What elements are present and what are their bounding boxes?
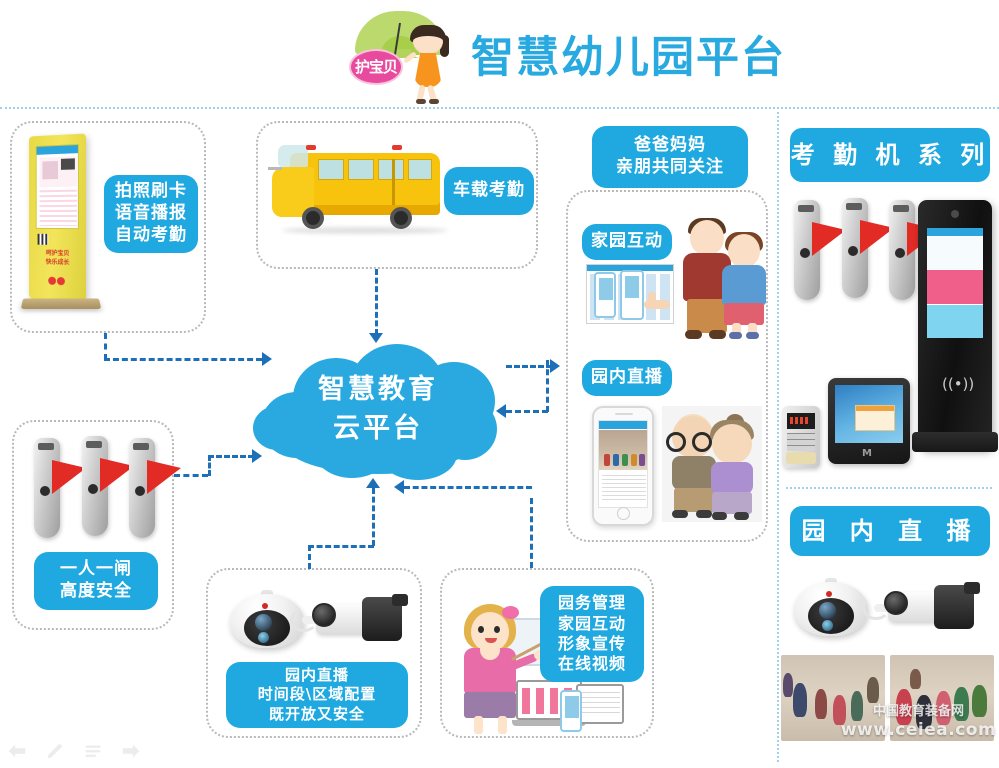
attendance-totem-icon: ((•)) xyxy=(918,200,992,450)
turnstile-gates-icon xyxy=(30,436,160,542)
list-icon[interactable] xyxy=(82,740,104,762)
arrow-cloud-to-parents xyxy=(550,359,560,373)
page-header: 护宝贝 智慧幼儿园平台 xyxy=(0,0,999,108)
connector-teacher-v xyxy=(530,498,533,568)
kiosk-feature-3: 自动考勤 xyxy=(115,225,187,247)
interaction-label-text: 家园互动 xyxy=(591,231,663,253)
connector-cam-v1 xyxy=(308,545,311,569)
school-bus-icon xyxy=(272,141,458,241)
connector-bus-v xyxy=(375,269,378,335)
page-title: 智慧幼儿园平台 xyxy=(471,23,786,85)
camera-feature-2: 时间段\区域配置 xyxy=(258,685,376,704)
bus-feature-1: 车载考勤 xyxy=(453,180,525,202)
teacher-feature-4: 在线视频 xyxy=(558,654,626,674)
arrow-kiosk-to-cloud xyxy=(262,352,272,366)
sidebar-dome-camera-icon xyxy=(794,578,868,640)
sidebar-title-attendance[interactable]: 考 勤 机 系 列 xyxy=(790,128,990,182)
infographic-root: 护宝贝 智慧幼儿园平台 呵护宝贝 快乐成长 拍照刷卡 xyxy=(0,0,999,768)
card-bus-attendance[interactable]: 车载考勤 xyxy=(256,121,538,269)
arrow-parents-to-cloud xyxy=(496,404,506,418)
kiosk-feature-1: 拍照刷卡 xyxy=(115,181,187,203)
card-turnstile-gates[interactable]: 一人一闸 高度安全 xyxy=(12,420,174,630)
connector-cam-v2 xyxy=(372,488,375,546)
cloud-platform-label: 智慧教育 云平台 xyxy=(253,370,503,448)
interaction-phone-screenshot xyxy=(594,272,616,318)
connector-gate-h2 xyxy=(208,455,254,458)
brand-badge: 护宝贝 xyxy=(349,49,403,85)
classroom-photo-1 xyxy=(781,655,885,741)
label-teacher-features[interactable]: 园务管理 家园互动 形象宣传 在线视频 xyxy=(540,586,644,682)
vertical-divider xyxy=(777,112,779,762)
arrow-teacher-to-cloud xyxy=(394,480,404,494)
connector-kiosk-h xyxy=(104,358,262,361)
kiosk-feature-2: 语音播报 xyxy=(115,203,187,225)
card-reader-icon xyxy=(782,406,820,468)
arrow-bus-to-cloud xyxy=(369,333,383,343)
parents-live-label-text: 园内直播 xyxy=(591,367,663,389)
live-stream-phone-icon xyxy=(592,406,654,526)
parents-header-1: 爸爸妈妈 xyxy=(634,135,706,157)
sidebar-attendance-title-text: 考 勤 机 系 列 xyxy=(791,140,989,171)
teacher-feature-2: 家园互动 xyxy=(558,614,626,634)
card-parents-services[interactable]: 家园互动 园内直播 xyxy=(566,190,768,542)
teacher-feature-1: 园务管理 xyxy=(558,593,626,613)
gate-feature-2: 高度安全 xyxy=(60,581,132,603)
connector-parents-v xyxy=(546,360,549,412)
card-kiosk-attendance[interactable]: 呵护宝贝 快乐成长 拍照刷卡 语音播报 自动考勤 xyxy=(10,121,206,333)
sidebar-bullet-camera-icon xyxy=(872,580,982,636)
kiosk-slogan-1: 呵护宝贝 xyxy=(46,250,70,258)
gate-feature-1: 一人一闸 xyxy=(60,559,132,581)
cloud-line-1: 智慧教育 xyxy=(253,370,503,409)
grandparents-photo xyxy=(662,406,762,522)
back-arrow-icon[interactable] xyxy=(6,740,28,762)
pointing-hand-icon xyxy=(644,292,678,322)
header-divider xyxy=(0,107,999,109)
connector-parents-h2 xyxy=(506,410,548,413)
arrow-gates-to-cloud xyxy=(252,449,262,463)
classroom-photo-2 xyxy=(890,655,994,741)
pencil-icon[interactable] xyxy=(44,740,66,762)
card-teacher-management[interactable]: 园务管理 家园互动 形象宣传 在线视频 xyxy=(440,568,654,738)
camera-feature-3: 既开放又安全 xyxy=(269,705,365,724)
label-bus-attendance[interactable]: 车载考勤 xyxy=(444,167,534,215)
forward-arrow-icon[interactable] xyxy=(120,740,142,762)
connector-kiosk-v xyxy=(104,333,107,360)
interaction-phone-screenshot-2 xyxy=(620,270,644,320)
attendance-kiosk-device-icon: 呵护宝贝 快乐成长 xyxy=(22,135,102,315)
cloud-line-2: 云平台 xyxy=(253,409,503,448)
label-home-school-interaction[interactable]: 家园互动 xyxy=(582,224,672,260)
sidebar-live-title-text: 园 内 直 播 xyxy=(801,516,978,547)
teacher-feature-3: 形象宣传 xyxy=(558,634,626,654)
kiosk-slogan-2: 快乐成长 xyxy=(46,259,70,267)
label-kiosk-features[interactable]: 拍照刷卡 语音播报 自动考勤 xyxy=(104,175,198,253)
parents-couple-icon xyxy=(676,220,768,340)
arrow-cameras-to-cloud xyxy=(366,478,380,488)
sidebar-title-live[interactable]: 园 内 直 播 xyxy=(790,506,990,556)
teacher-devices-icon xyxy=(512,676,642,732)
bullet-camera-icon xyxy=(300,592,410,648)
cloud-platform-node[interactable]: 智慧教育 云平台 xyxy=(253,340,503,486)
umbrella-girl-logo-icon: 护宝贝 xyxy=(345,5,457,103)
label-gate-security[interactable]: 一人一闸 高度安全 xyxy=(34,552,158,610)
connector-teacher-h xyxy=(404,486,532,489)
tablet-attendance-terminal-icon: M xyxy=(828,378,910,464)
girl-figure-icon xyxy=(405,27,453,101)
camera-feature-1: 园内直播 xyxy=(285,666,349,685)
connector-gate-h1 xyxy=(174,474,208,477)
card-campus-live[interactable]: 园内直播 时间段\区域配置 既开放又安全 xyxy=(206,568,422,738)
connector-gate-v xyxy=(208,455,211,476)
bottom-toolbar[interactable] xyxy=(6,740,142,762)
label-parents-live[interactable]: 园内直播 xyxy=(582,360,672,396)
parents-header-2: 亲朋共同关注 xyxy=(616,157,724,179)
connector-cam-h xyxy=(308,545,374,548)
nfc-wave-icon: ((•)) xyxy=(942,375,970,391)
sidebar-section-divider xyxy=(786,487,992,489)
label-campus-live[interactable]: 园内直播 时间段\区域配置 既开放又安全 xyxy=(226,662,408,728)
label-parents-header[interactable]: 爸爸妈妈 亲朋共同关注 xyxy=(592,126,748,188)
grandma-figure-icon xyxy=(704,418,762,522)
